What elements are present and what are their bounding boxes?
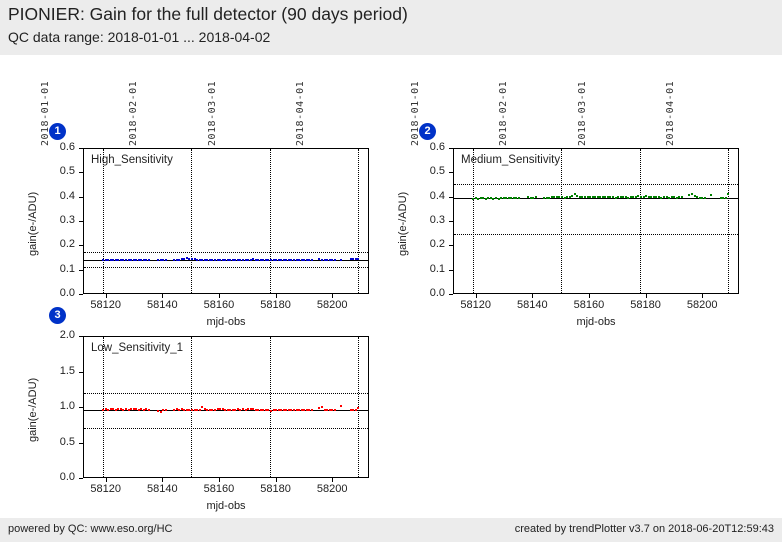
plot-frame-2	[453, 148, 739, 294]
y-tick-mark	[79, 172, 83, 173]
date-tick-label: 2018-02-01	[128, 81, 196, 146]
data-point	[148, 259, 150, 261]
series-title-3: Low_Sensitivity_1	[91, 342, 183, 354]
y-tick-label: 0.3	[409, 214, 445, 226]
vertical-gridline	[561, 149, 562, 293]
y-tick-mark	[79, 197, 83, 198]
data-point	[355, 409, 357, 411]
data-point	[727, 193, 729, 195]
limit-line	[454, 234, 738, 235]
y-axis-title-1: gain(e-/ADU)	[27, 192, 39, 256]
x-tick-label: 58180	[251, 299, 301, 311]
footer-credit-qc: powered by QC: www.eso.org/HC	[8, 523, 172, 535]
x-tick-label: 58160	[194, 299, 244, 311]
data-point	[535, 196, 537, 198]
y-tick-label: 0.6	[39, 141, 75, 153]
y-tick-mark	[449, 148, 453, 149]
y-tick-label: 0.3	[39, 214, 75, 226]
data-point	[165, 409, 167, 411]
y-tick-label: 0.1	[39, 263, 75, 275]
data-point	[710, 194, 712, 196]
x-tick-mark	[532, 294, 533, 298]
x-tick-label: 58160	[194, 483, 244, 495]
y-tick-mark	[449, 294, 453, 295]
x-tick-label: 58200	[677, 299, 727, 311]
date-tick-label: 2018-01-01	[40, 81, 108, 146]
y-tick-label: 2.0	[39, 329, 75, 341]
x-tick-mark	[476, 294, 477, 298]
vertical-gridline	[191, 149, 192, 293]
date-tick-label: 2018-03-01	[207, 81, 275, 146]
y-tick-mark	[79, 336, 83, 337]
y-tick-mark	[79, 221, 83, 222]
page-title: PIONIER: Gain for the full detector (90 …	[8, 4, 408, 25]
vertical-gridline	[103, 337, 104, 477]
data-point	[518, 197, 520, 199]
x-tick-mark	[646, 294, 647, 298]
y-tick-mark	[79, 294, 83, 295]
y-tick-label: 0.4	[39, 190, 75, 202]
y-tick-mark	[79, 148, 83, 149]
x-tick-label: 58160	[564, 299, 614, 311]
vertical-gridline	[270, 337, 271, 477]
limit-line	[84, 267, 368, 268]
plot-frame-3	[83, 336, 369, 478]
data-point	[681, 196, 683, 198]
limit-line	[84, 393, 368, 394]
x-tick-mark	[332, 478, 333, 482]
data-point	[311, 259, 313, 261]
y-tick-label: 1.5	[39, 365, 75, 377]
vertical-gridline	[640, 149, 641, 293]
date-tick-label: 2018-04-01	[295, 81, 363, 146]
y-tick-mark	[79, 372, 83, 373]
vertical-gridline	[191, 337, 192, 477]
x-tick-mark	[589, 294, 590, 298]
y-tick-label: 1.0	[39, 400, 75, 412]
y-tick-mark	[79, 270, 83, 271]
x-tick-mark	[106, 478, 107, 482]
x-tick-mark	[276, 478, 277, 482]
limit-line	[84, 428, 368, 429]
footer-credit-tool: created by trendPlotter v3.7 on 2018-06-…	[515, 523, 774, 535]
data-point	[321, 406, 323, 408]
y-tick-mark	[449, 197, 453, 198]
vertical-gridline	[103, 149, 104, 293]
x-tick-mark	[702, 294, 703, 298]
y-tick-label: 0.0	[409, 287, 445, 299]
x-axis-title-2: mjd-obs	[453, 316, 739, 328]
footer-banner: powered by QC: www.eso.org/HC created by…	[0, 518, 782, 542]
y-tick-label: 0.1	[409, 263, 445, 275]
data-point	[340, 405, 342, 407]
x-tick-mark	[162, 478, 163, 482]
date-tick-label: 2018-01-01	[410, 81, 478, 146]
data-point	[311, 409, 313, 411]
y-tick-mark	[79, 245, 83, 246]
x-axis-title-3: mjd-obs	[83, 500, 369, 512]
y-tick-mark	[449, 172, 453, 173]
y-tick-label: 0.5	[39, 165, 75, 177]
x-tick-label: 58200	[307, 299, 357, 311]
x-tick-label: 58140	[137, 483, 187, 495]
x-tick-label: 58120	[81, 483, 131, 495]
plot-frame-1	[83, 148, 369, 294]
x-tick-label: 58140	[507, 299, 557, 311]
limit-line	[84, 252, 368, 253]
x-tick-mark	[219, 478, 220, 482]
x-axis-title-1: mjd-obs	[83, 316, 369, 328]
y-axis-title-2: gain(e-/ADU)	[397, 192, 409, 256]
series-title-2: Medium_Sensitivity	[461, 154, 560, 166]
x-tick-label: 58120	[451, 299, 501, 311]
vertical-gridline	[728, 149, 729, 293]
y-tick-mark	[79, 443, 83, 444]
y-tick-mark	[449, 245, 453, 246]
x-tick-mark	[162, 294, 163, 298]
y-tick-label: 0.6	[409, 141, 445, 153]
data-point	[357, 258, 359, 260]
header-banner: PIONIER: Gain for the full detector (90 …	[0, 0, 782, 55]
series-title-1: High_Sensitivity	[91, 154, 173, 166]
x-tick-mark	[106, 294, 107, 298]
limit-line	[454, 184, 738, 185]
x-tick-mark	[332, 294, 333, 298]
y-tick-mark	[79, 407, 83, 408]
vertical-gridline	[358, 149, 359, 293]
data-point	[148, 409, 150, 411]
y-tick-mark	[449, 221, 453, 222]
vertical-gridline	[473, 149, 474, 293]
y-tick-label: 0.2	[39, 238, 75, 250]
data-point	[199, 409, 201, 411]
y-tick-mark	[79, 478, 83, 479]
y-tick-mark	[449, 270, 453, 271]
data-point	[704, 197, 706, 199]
x-tick-mark	[219, 294, 220, 298]
x-tick-label: 58180	[251, 483, 301, 495]
data-point	[160, 411, 162, 413]
y-tick-label: 0.0	[39, 287, 75, 299]
y-axis-title-3: gain(e-/ADU)	[27, 378, 39, 442]
date-tick-label: 2018-02-01	[498, 81, 566, 146]
vertical-gridline	[270, 149, 271, 293]
x-tick-mark	[276, 294, 277, 298]
data-point	[340, 259, 342, 261]
x-tick-label: 58180	[621, 299, 671, 311]
data-point	[334, 409, 336, 411]
date-tick-label: 2018-03-01	[577, 81, 645, 146]
panel-badge-3[interactable]: 3	[49, 307, 66, 324]
x-tick-label: 58140	[137, 299, 187, 311]
x-tick-label: 58200	[307, 483, 357, 495]
page-subtitle: QC data range: 2018-01-01 ... 2018-04-02	[8, 29, 270, 45]
data-point	[165, 259, 167, 261]
x-tick-label: 58120	[81, 299, 131, 311]
data-point	[725, 197, 727, 199]
y-tick-label: 0.5	[409, 165, 445, 177]
y-tick-label: 0.4	[409, 190, 445, 202]
y-tick-label: 0.5	[39, 436, 75, 448]
data-point	[357, 407, 359, 409]
date-tick-label: 2018-04-01	[665, 81, 733, 146]
data-point	[334, 259, 336, 261]
y-tick-label: 0.0	[39, 471, 75, 483]
y-tick-label: 0.2	[409, 238, 445, 250]
